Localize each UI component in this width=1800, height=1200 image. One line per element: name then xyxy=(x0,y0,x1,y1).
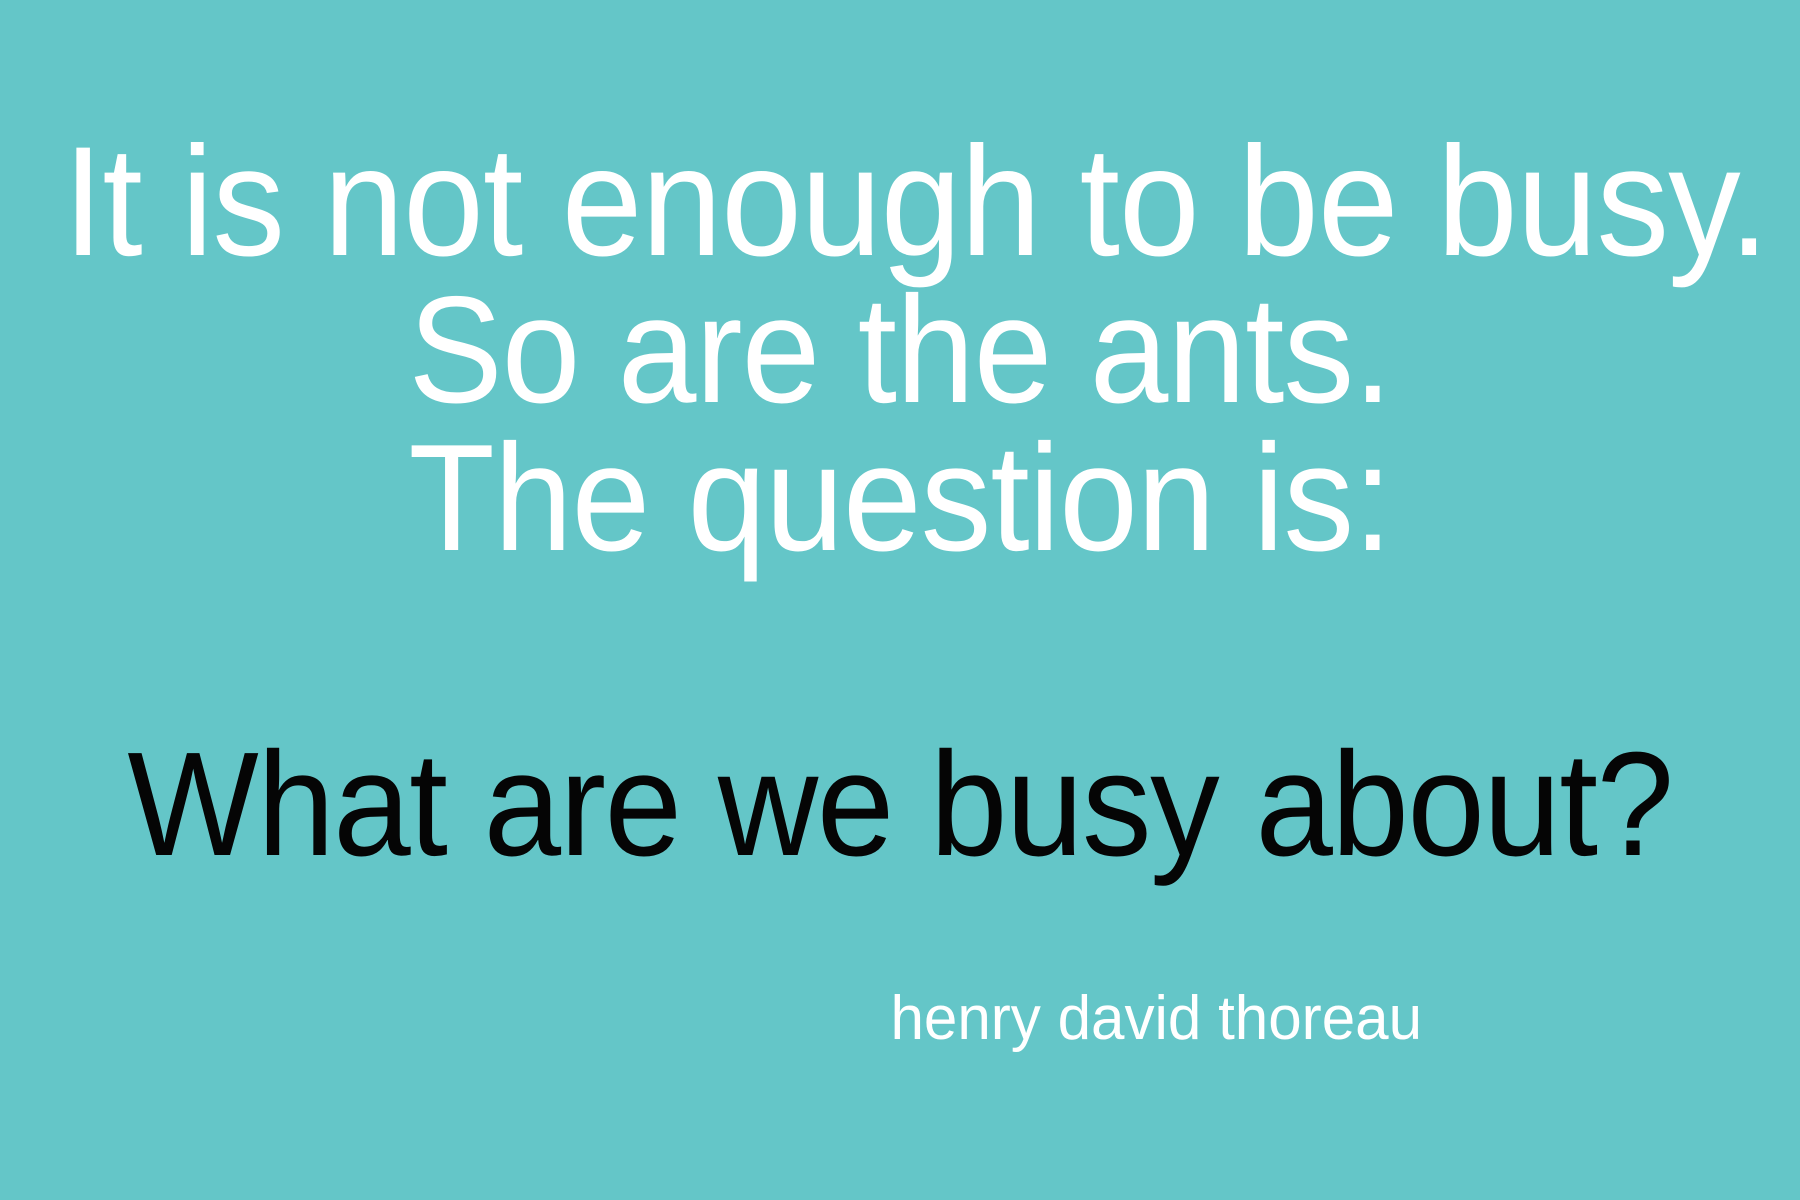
attribution-author: henry david thoreau xyxy=(890,986,1422,1052)
question-text: What are we busy about? xyxy=(54,730,1746,880)
quote-line-2: So are the ants. xyxy=(63,276,1737,424)
attribution-block: henry david thoreau xyxy=(874,986,1422,1052)
question-block: What are we busy about? xyxy=(0,730,1800,880)
quote-line-3: The question is: xyxy=(63,424,1737,572)
quote-line-1: It is not enough to be busy. xyxy=(63,128,1737,276)
quote-text-block: It is not enough to be busy. So are the … xyxy=(0,128,1800,572)
quote-card: It is not enough to be busy. So are the … xyxy=(0,0,1800,1200)
